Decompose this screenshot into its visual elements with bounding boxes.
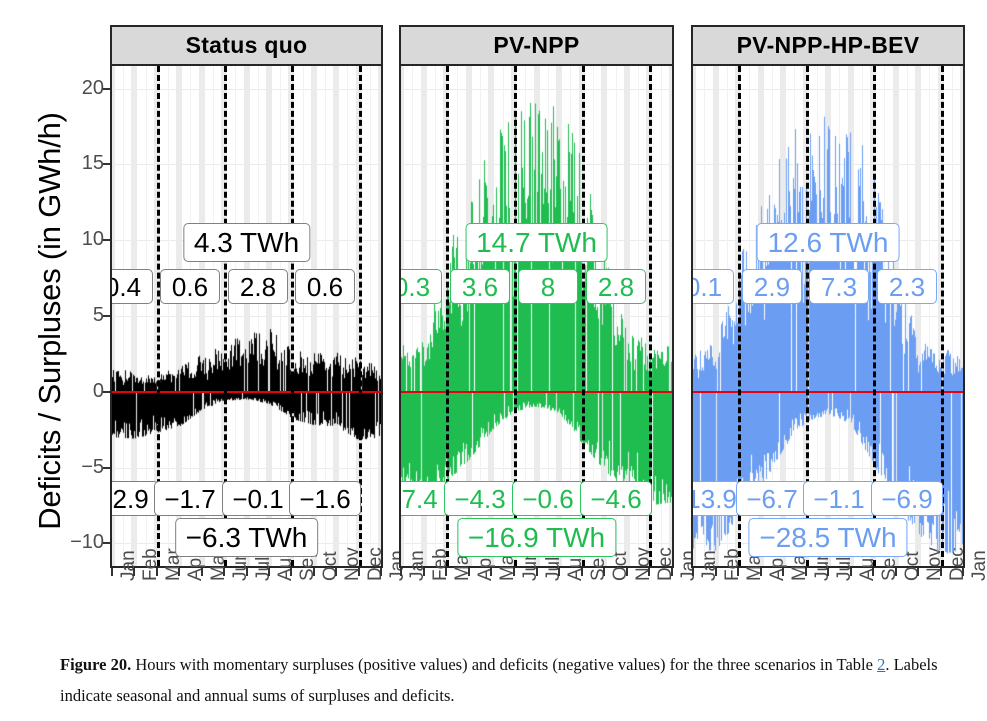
x-tick-mark xyxy=(603,568,605,576)
x-tick-mark xyxy=(178,568,180,576)
seasonal-surplus-label: 2.3 xyxy=(877,269,937,304)
annual-deficit-label: −16.9 TWh xyxy=(457,518,616,557)
y-tick-mark xyxy=(103,88,110,90)
panel-title-status-quo: Status quo xyxy=(110,25,383,66)
x-tick-mark xyxy=(223,568,225,576)
x-tick-mark xyxy=(782,568,784,576)
x-tick-mark xyxy=(423,568,425,576)
seasonal-surplus-label: 0.3 xyxy=(401,269,442,304)
zero-reference-line xyxy=(401,391,672,393)
plot-status-quo: 0.40.62.80.6−2.9−1.7−0.1−1.64.3 TWh−6.3 … xyxy=(110,66,383,568)
y-tick-label: 0 xyxy=(58,381,104,401)
plot-pv-npp: 0.33.682.8−7.4−4.3−0.6−4.614.7 TWh−16.9 … xyxy=(399,66,674,568)
y-tick-label: 10 xyxy=(58,229,104,249)
figure-plot-area: Deficits / Surpluses (in GWh/h) 20151050… xyxy=(0,0,987,640)
x-tick-mark xyxy=(133,568,135,576)
annual-surplus-label: 12.6 TWh xyxy=(757,223,900,262)
x-tick-label: Jan xyxy=(970,550,987,581)
plot-inner-pv-npp: 0.33.682.8−7.4−4.3−0.6−4.614.7 TWh−16.9 … xyxy=(401,66,672,566)
seasonal-deficit-label: −0.1 xyxy=(222,481,294,516)
y-tick-label: 15 xyxy=(58,153,104,173)
seasonal-surplus-label: 7.3 xyxy=(809,269,869,304)
x-tick-mark xyxy=(201,568,203,576)
x-tick-mark xyxy=(513,568,515,576)
y-tick-mark xyxy=(103,467,110,469)
seasonal-surplus-label: 0.6 xyxy=(295,269,355,304)
x-tick-mark xyxy=(268,568,270,576)
figure-caption: Figure 20. Hours with momentary surpluse… xyxy=(0,640,987,721)
seasonal-deficit-label: −0.6 xyxy=(512,481,584,516)
plot-inner-status-quo: 0.40.62.80.6−2.9−1.7−0.1−1.64.3 TWh−6.3 … xyxy=(112,66,381,566)
x-tick-mark xyxy=(805,568,807,576)
y-tick-mark xyxy=(103,391,110,393)
seasonal-deficit-label: −4.6 xyxy=(580,481,652,516)
x-tick-mark xyxy=(400,568,402,576)
x-tick-mark xyxy=(895,568,897,576)
seasonal-deficit-label: −1.1 xyxy=(803,481,875,516)
seasonal-deficit-label: −7.4 xyxy=(401,481,448,516)
plot-pv-npp-hp-bev: 0.12.97.32.3−13.9−6.7−1.1−6.912.6 TWh−28… xyxy=(691,66,965,568)
caption-text: Figure 20. Hours with momentary surpluse… xyxy=(60,650,940,711)
seasonal-deficit-label: −1.6 xyxy=(289,481,361,516)
zero-reference-line xyxy=(693,391,963,393)
seasonal-deficit-label: −1.7 xyxy=(154,481,226,516)
x-tick-mark xyxy=(715,568,717,576)
x-tick-mark xyxy=(827,568,829,576)
seasonal-deficit-label: −2.9 xyxy=(112,481,159,516)
plot-inner-pv-npp-hp-bev: 0.12.97.32.3−13.9−6.7−1.1−6.912.6 TWh−28… xyxy=(693,66,963,566)
x-tick-mark xyxy=(760,568,762,576)
x-tick-mark xyxy=(962,568,964,576)
seasonal-surplus-label: 0.6 xyxy=(160,269,220,304)
x-tick-mark xyxy=(692,568,694,576)
annual-surplus-label: 4.3 TWh xyxy=(183,223,310,262)
x-tick-mark xyxy=(648,568,650,576)
y-tick-mark xyxy=(103,239,110,241)
x-tick-mark xyxy=(445,568,447,576)
y-tick-label: 20 xyxy=(58,78,104,98)
seasonal-surplus-label: 2.8 xyxy=(586,269,646,304)
seasonal-deficit-label: −6.7 xyxy=(736,481,808,516)
seasonal-deficit-label: −13.9 xyxy=(693,481,740,516)
x-tick-mark xyxy=(246,568,248,576)
x-tick-mark xyxy=(490,568,492,576)
x-tick-mark xyxy=(380,568,382,576)
seasonal-deficit-label: −6.9 xyxy=(871,481,943,516)
x-tick-mark xyxy=(358,568,360,576)
x-tick-mark xyxy=(156,568,158,576)
seasonal-surplus-label: 2.9 xyxy=(742,269,802,304)
x-tick-mark xyxy=(940,568,942,576)
x-tick-mark xyxy=(313,568,315,576)
x-tick-mark xyxy=(468,568,470,576)
zero-reference-line xyxy=(112,391,381,393)
x-tick-mark xyxy=(290,568,292,576)
panel-pv-npp: PV-NPP 0.33.682.8−7.4−4.3−0.6−4.614.7 TW… xyxy=(399,25,674,568)
annual-deficit-label: −28.5 TWh xyxy=(748,518,907,557)
y-axis-title-wrapper: Deficits / Surpluses (in GWh/h) xyxy=(0,0,60,640)
caption-text-before-link: Hours with momentary surpluses (positive… xyxy=(131,655,877,674)
seasonal-surplus-label: 8 xyxy=(518,269,578,304)
seasonal-surplus-label: 3.6 xyxy=(450,269,510,304)
x-tick-mark xyxy=(626,568,628,576)
seasonal-surplus-label: 0.4 xyxy=(112,269,153,304)
caption-label: Figure 20. xyxy=(60,655,131,674)
x-tick-mark xyxy=(558,568,560,576)
x-tick-mark xyxy=(111,568,113,576)
x-tick-mark xyxy=(671,568,673,576)
x-tick-mark xyxy=(536,568,538,576)
x-tick-mark xyxy=(917,568,919,576)
x-tick-mark xyxy=(872,568,874,576)
x-tick-mark xyxy=(335,568,337,576)
x-tick-mark xyxy=(581,568,583,576)
seasonal-deficit-label: −4.3 xyxy=(444,481,516,516)
y-tick-label: 5 xyxy=(58,305,104,325)
annual-deficit-label: −6.3 TWh xyxy=(175,518,319,557)
panel-status-quo: Status quo 0.40.62.80.6−2.9−1.7−0.1−1.64… xyxy=(110,25,383,568)
y-tick-mark xyxy=(103,542,110,544)
x-tick-mark xyxy=(737,568,739,576)
y-tick-label: −5 xyxy=(58,457,104,477)
seasonal-surplus-label: 0.1 xyxy=(693,269,734,304)
seasonal-surplus-label: 2.8 xyxy=(228,269,288,304)
y-tick-mark xyxy=(103,315,110,317)
annual-surplus-label: 14.7 TWh xyxy=(465,223,608,262)
x-tick-mark xyxy=(850,568,852,576)
panel-title-pv-npp-hp-bev: PV-NPP-HP-BEV xyxy=(691,25,965,66)
y-tick-mark xyxy=(103,163,110,165)
panel-pv-npp-hp-bev: PV-NPP-HP-BEV 0.12.97.32.3−13.9−6.7−1.1−… xyxy=(691,25,965,568)
y-tick-label: −10 xyxy=(58,532,104,552)
panel-title-pv-npp: PV-NPP xyxy=(399,25,674,66)
